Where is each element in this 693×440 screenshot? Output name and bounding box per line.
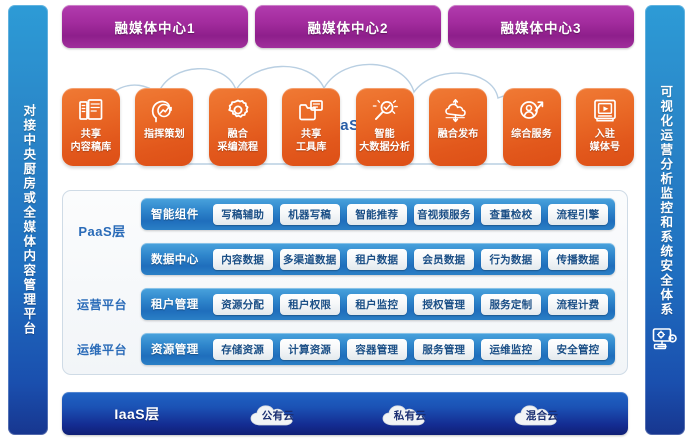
saas-card-label-line1: 共享: [81, 129, 101, 140]
gear-icon: [224, 96, 252, 126]
paas-chip[interactable]: 内容数据: [213, 249, 273, 270]
paas-row-label: 运维平台: [63, 341, 141, 358]
iaas-cloud-label: 公有云: [241, 408, 315, 423]
media-center-box-1[interactable]: 融媒体中心1: [62, 5, 248, 48]
left-rail: 对接中央厨房或全媒体内容管理平台: [8, 5, 48, 435]
saas-card-editing-process[interactable]: 融合 采编流程: [209, 88, 267, 166]
saas-card-row: 共享 内容稿库 指挥策划: [62, 88, 634, 166]
paas-row-list: 智能组件 写稿辅助 机器写稿 智能推荐 音视频服务 查重检校 流程引擎 数据中心…: [63, 198, 627, 365]
iaas-cloud-public[interactable]: 公有云: [241, 401, 315, 427]
iaas-cloud-label: 私有云: [373, 408, 447, 423]
paas-chip[interactable]: 授权管理: [414, 294, 474, 315]
right-rail-label: 可视化运营分析监控和系统安全体系: [658, 85, 672, 317]
saas-card-label-line2: 大数据分析: [359, 142, 410, 153]
paas-row-ops-platform: 运维平台 资源管理 存储资源 计算资源 容器管理 服务管理 运维监控 安全管控: [63, 333, 627, 365]
saas-card-command-planning[interactable]: 指挥策划: [135, 88, 193, 166]
saas-card-label-line2: 内容稿库: [71, 142, 112, 153]
saas-card-converged-publish[interactable]: 融合发布: [429, 88, 487, 166]
paas-row-label: 运营平台: [63, 296, 141, 313]
iaas-cloud-hybrid[interactable]: 混合云: [505, 401, 579, 427]
paas-panel: PaaS层 智能组件 写稿辅助 机器写稿 智能推荐 音视频服务 查重检校 流程引…: [62, 190, 628, 375]
paas-chip[interactable]: 服务定制: [481, 294, 541, 315]
iaas-cloud-row: 公有云 私有云 混合云: [212, 401, 628, 427]
paas-chip[interactable]: 运维监控: [481, 339, 541, 360]
paas-row-bar: 数据中心 内容数据 多渠道数据 租户数据 会员数据 行为数据 传播数据: [141, 243, 615, 275]
command-planning-icon: [150, 96, 178, 126]
saas-card-label-line2: 采编流程: [217, 142, 258, 153]
left-rail-label: 对接中央厨房或全媒体内容管理平台: [21, 104, 35, 336]
media-center-box-2[interactable]: 融媒体中心2: [255, 5, 441, 48]
shared-toolbox-icon: [297, 96, 325, 126]
paas-row-head: 数据中心: [148, 251, 206, 267]
saas-card-label-line1: 综合服务: [511, 129, 552, 140]
saas-card-label-line1: 智能: [374, 129, 394, 140]
media-center-box-3[interactable]: 融媒体中心3: [448, 5, 634, 48]
saas-card-label-line1: 共享: [301, 129, 321, 140]
paas-chip[interactable]: 租户监控: [347, 294, 407, 315]
saas-card-label-line2: 媒体号: [590, 142, 621, 153]
paas-chip[interactable]: 智能推荐: [347, 204, 407, 225]
iaas-title: IaaS层: [62, 404, 212, 424]
saas-card-label-line1: 融合发布: [438, 129, 479, 140]
paas-row-bar: 智能组件 写稿辅助 机器写稿 智能推荐 音视频服务 查重检校 流程引擎: [141, 198, 615, 230]
paas-chip[interactable]: 行为数据: [481, 249, 541, 270]
saas-card-integrated-service[interactable]: 综合服务: [503, 88, 561, 166]
paas-chip[interactable]: 安全管控: [548, 339, 608, 360]
paas-row-head: 租户管理: [148, 296, 206, 312]
right-rail: 可视化运营分析监控和系统安全体系: [645, 5, 685, 435]
paas-chip[interactable]: 写稿辅助: [213, 204, 273, 225]
paas-chip[interactable]: 资源分配: [213, 294, 273, 315]
paas-chip[interactable]: 服务管理: [414, 339, 474, 360]
iaas-layer: IaaS层 公有云 私有云 混合云: [62, 392, 628, 435]
paas-row-bar: 租户管理 资源分配 租户权限 租户监控 授权管理 服务定制 流程计费: [141, 288, 615, 320]
paas-chip[interactable]: 多渠道数据: [280, 249, 340, 270]
integrated-service-icon: [518, 96, 546, 126]
paas-chip[interactable]: 音视频服务: [414, 204, 474, 225]
paas-row-smart-components: 智能组件 写稿辅助 机器写稿 智能推荐 音视频服务 查重检校 流程引擎: [63, 198, 627, 230]
saas-layer: SaaS层 共享 内容稿库: [58, 52, 638, 180]
media-account-icon: [591, 96, 619, 126]
paas-row-operation-platform: 运营平台 租户管理 资源分配 租户权限 租户监控 授权管理 服务定制 流程计费: [63, 288, 627, 320]
content-library-icon: [77, 96, 105, 126]
saas-card-label-line2: 工具库: [296, 142, 327, 153]
iaas-cloud-label: 混合云: [505, 408, 579, 423]
saas-card-label-line1: 入驻: [595, 129, 615, 140]
iaas-cloud-private[interactable]: 私有云: [373, 401, 447, 427]
saas-card-content-library[interactable]: 共享 内容稿库: [62, 88, 120, 166]
saas-card-label-line1: 融合: [228, 129, 248, 140]
paas-chip[interactable]: 会员数据: [414, 249, 474, 270]
media-center-row: 融媒体中心1 融媒体中心2 融媒体中心3: [62, 5, 634, 48]
saas-card-media-account[interactable]: 入驻 媒体号: [576, 88, 634, 166]
converged-publish-icon: [444, 96, 472, 126]
paas-row-head: 资源管理: [148, 341, 206, 357]
saas-card-label-line1: 指挥策划: [144, 129, 185, 140]
paas-row-data-center: 数据中心 内容数据 多渠道数据 租户数据 会员数据 行为数据 传播数据: [63, 243, 627, 275]
paas-chip[interactable]: 查重检校: [481, 204, 541, 225]
paas-chip[interactable]: 租户数据: [347, 249, 407, 270]
paas-chip[interactable]: 机器写稿: [280, 204, 340, 225]
paas-chip[interactable]: 传播数据: [548, 249, 608, 270]
paas-chip[interactable]: 存储资源: [213, 339, 273, 360]
paas-chip[interactable]: 计算资源: [280, 339, 340, 360]
paas-chip[interactable]: 流程计费: [548, 294, 608, 315]
saas-card-big-data[interactable]: 智能 大数据分析: [356, 88, 414, 166]
paas-row-head: 智能组件: [148, 206, 206, 222]
monitor-gear-icon: [652, 327, 678, 356]
architecture-diagram: 对接中央厨房或全媒体内容管理平台 可视化运营分析监控和系统安全体系 融媒体中心1…: [0, 0, 693, 440]
saas-card-shared-toolbox[interactable]: 共享 工具库: [282, 88, 340, 166]
big-data-analysis-icon: [371, 96, 399, 126]
paas-chip[interactable]: 流程引擎: [548, 204, 608, 225]
paas-row-bar: 资源管理 存储资源 计算资源 容器管理 服务管理 运维监控 安全管控: [141, 333, 615, 365]
paas-chip[interactable]: 容器管理: [347, 339, 407, 360]
paas-chip[interactable]: 租户权限: [280, 294, 340, 315]
